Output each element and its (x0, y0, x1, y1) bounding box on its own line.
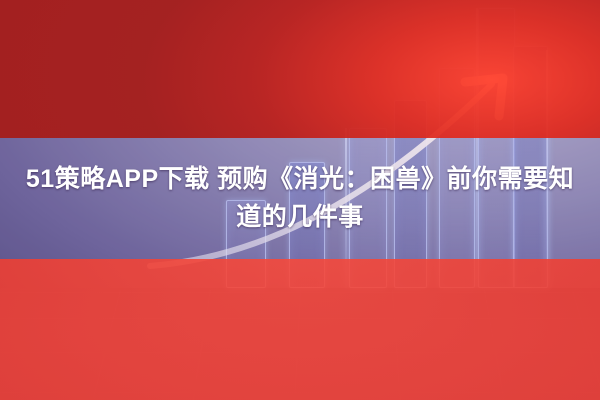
bottom-red-band (0, 259, 600, 400)
banner-image: 51策略APP下载 预购《消光：困兽》前你需要知道的几件事 (0, 0, 600, 400)
top-red-band (0, 0, 600, 138)
page-title: 51策略APP下载 预购《消光：困兽》前你需要知道的几件事 (0, 160, 600, 236)
